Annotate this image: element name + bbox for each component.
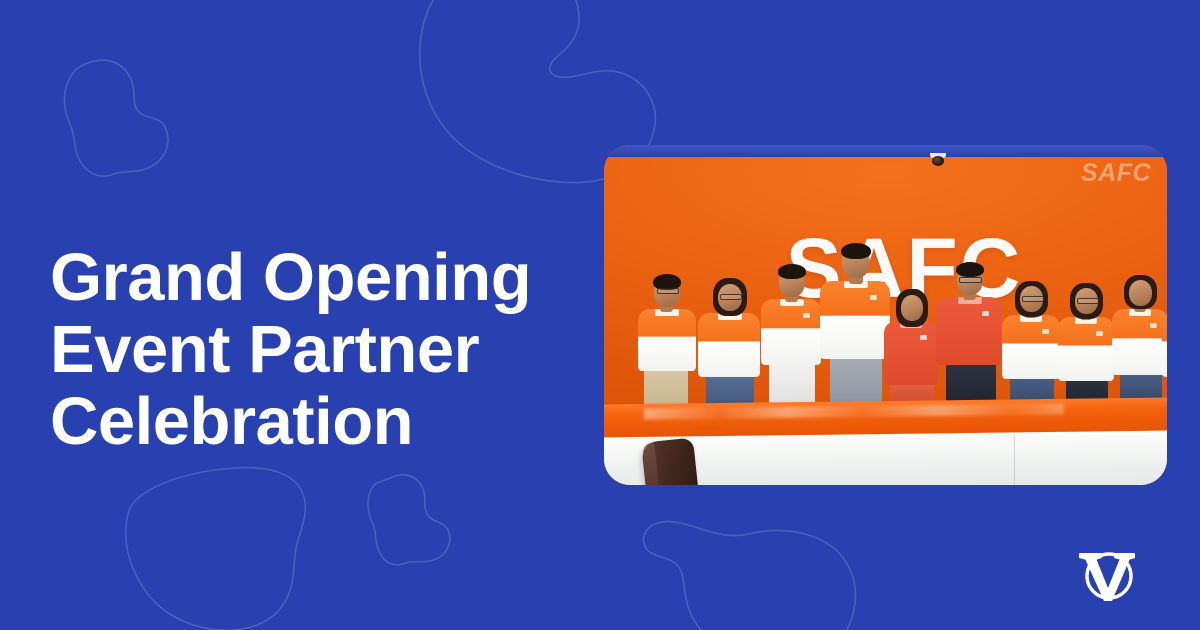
person-glasses-icon: [1077, 298, 1099, 304]
person-shirt: [936, 297, 1002, 365]
headline: Grand Opening Event Partner Celebration: [50, 242, 590, 458]
person-2: [696, 275, 766, 411]
security-camera-icon: [932, 156, 944, 166]
blob-bottom-left: [126, 468, 306, 630]
person-logo-badge: [1042, 329, 1049, 334]
person-shirt: [1002, 315, 1060, 379]
person-hair: [956, 262, 984, 277]
person-9: [1110, 271, 1167, 411]
person-10: [1160, 275, 1167, 411]
person-hair: [841, 243, 871, 259]
person-glasses-icon: [657, 288, 679, 294]
photo-watermark: SAFC: [1081, 159, 1151, 188]
person-logo-badge: [982, 311, 989, 316]
person-shirt: [820, 281, 890, 359]
event-photo: SAFC SAFC: [604, 145, 1167, 485]
headline-line-3: Celebration: [50, 386, 590, 458]
person-shirt: [638, 309, 696, 371]
person-glasses-icon: [720, 294, 742, 300]
person-1: [636, 269, 702, 411]
person-3: [759, 257, 827, 411]
person-shirt: [1058, 317, 1114, 381]
person-logo-badge: [920, 335, 927, 340]
person-shirt: [698, 313, 760, 377]
headline-line-1: Grand Opening: [50, 242, 590, 314]
person-logo-badge: [1150, 323, 1157, 328]
person-hair: [778, 264, 806, 279]
person-6: [934, 257, 1010, 411]
blob-bottom-mid: [368, 475, 450, 565]
blob-top-left: [64, 60, 167, 176]
person-face: [901, 295, 923, 321]
person-logo-badge: [803, 313, 810, 318]
person-shirt: [1112, 309, 1167, 375]
blob-bottom-center: [644, 522, 856, 630]
photo-ceiling: [604, 145, 1167, 157]
headline-line-2: Event Partner: [50, 314, 590, 386]
person-face: [1129, 280, 1152, 306]
brand-logo-v-icon[interactable]: [1072, 538, 1142, 608]
person-logo-badge: [1096, 331, 1103, 336]
person-shirt: [761, 299, 821, 365]
person-shirt: [884, 321, 938, 385]
person-glasses-icon: [1022, 296, 1044, 302]
counter-seam: [1014, 435, 1015, 485]
person-glasses-icon: [959, 277, 982, 283]
person-logo-badge: [870, 295, 877, 300]
social-card: Grand Opening Event Partner Celebration …: [0, 0, 1200, 630]
person-shirt: [1162, 313, 1167, 377]
